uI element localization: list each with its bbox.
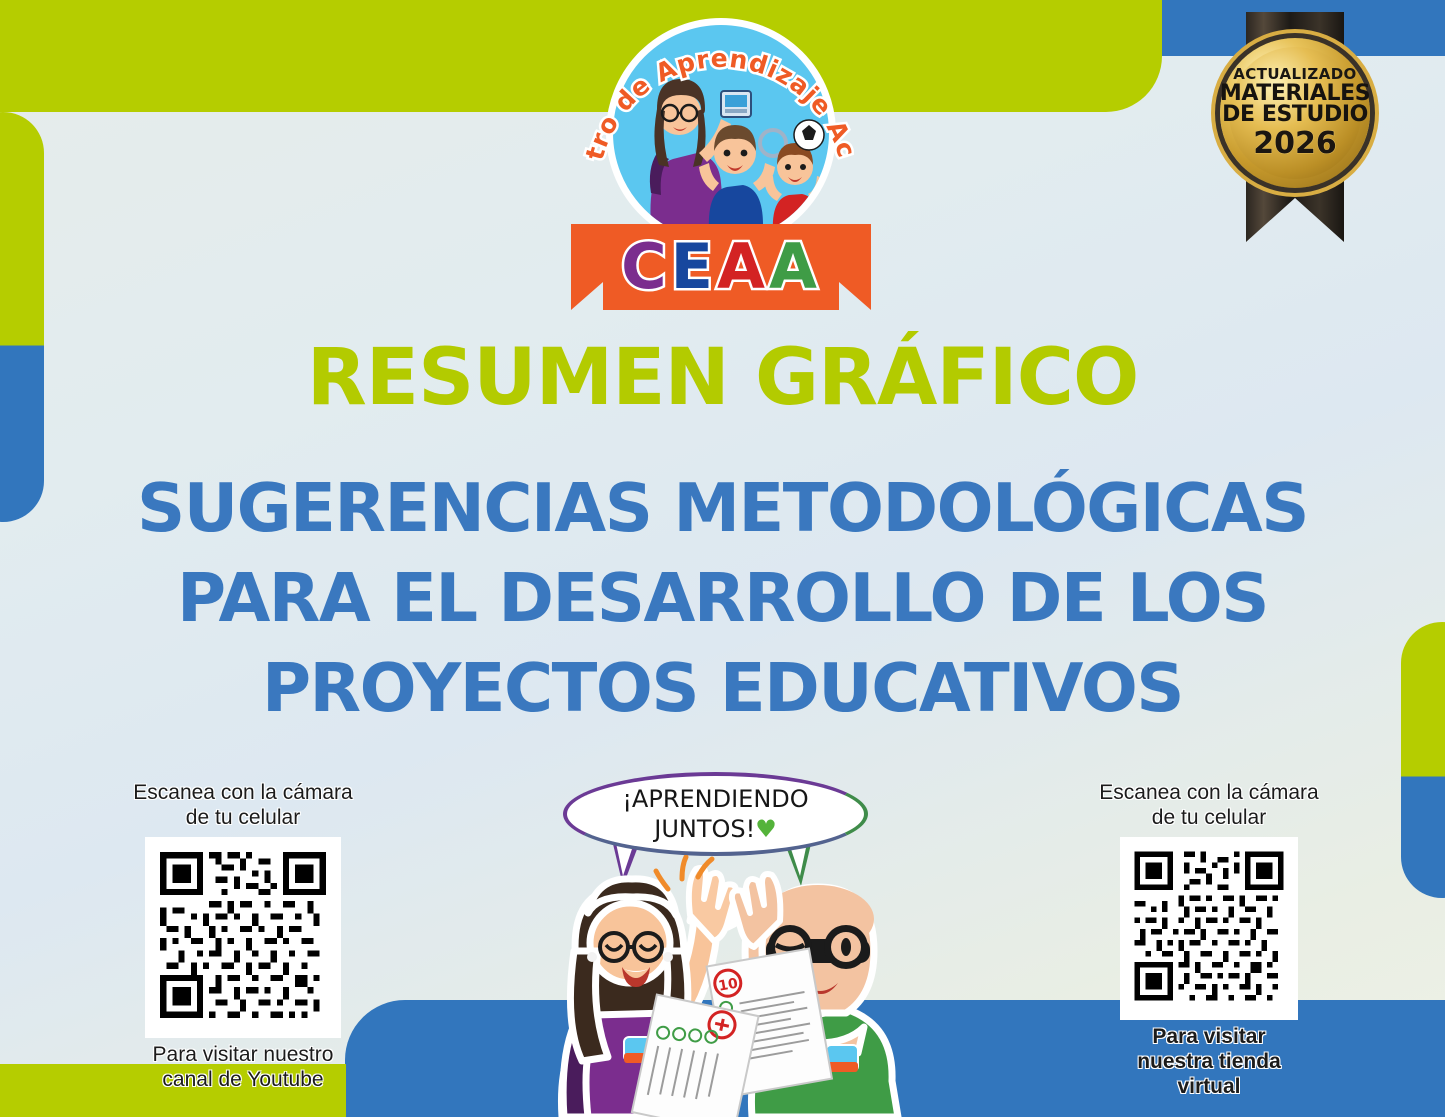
badge-medal-face: ACTUALIZADO MATERIALES DE ESTUDIO 2026: [1229, 47, 1361, 179]
qr-right-caption-bottom-3: virtual: [1065, 1074, 1353, 1099]
badge-de-estudio: DE ESTUDIO: [1220, 104, 1370, 125]
qr-code-icon[interactable]: [1129, 846, 1289, 1006]
badge-materiales: MATERIALES: [1220, 83, 1370, 104]
paper-score-right: 10: [717, 976, 739, 995]
qr-code-icon[interactable]: [154, 846, 332, 1024]
speech-line-2: JUNTOS!♥: [563, 814, 868, 844]
logo-banner: CEAA: [571, 224, 871, 310]
poster-canvas: Centro de Aprendizaje Activo CEAA ACTUAL…: [0, 0, 1445, 1117]
page-subtitle-blue: SUGERENCIAS METODOLÓGICAS PARA EL DESARR…: [0, 463, 1445, 733]
qr-left-caption-top-1: Escanea con la cámara: [112, 780, 374, 805]
logo-letter-a2: A: [769, 230, 821, 303]
qr-left-caption-bottom: Para visitar nuestro canal de Youtube: [112, 1042, 374, 1092]
qr-right-caption-bottom-1: Para visitar: [1065, 1024, 1353, 1049]
qr-code-store[interactable]: [1120, 837, 1298, 1020]
qr-code-youtube[interactable]: [145, 837, 341, 1038]
qr-left-caption-top-2: de tu celular: [112, 805, 374, 830]
logo-arc-text: Centro de Aprendizaje Activo: [566, 14, 876, 254]
qr-right-caption-bottom: Para visitar nuestra tienda virtual: [1065, 1024, 1353, 1099]
speech-line-1: ¡APRENDIENDO: [563, 784, 868, 814]
celebrating-people-illustration: 10: [540, 855, 930, 1117]
qr-right-caption-top-1: Escanea con la cámara: [1065, 780, 1353, 805]
badge-line-materiales: MATERIALES DE ESTUDIO: [1220, 83, 1370, 125]
logo-arc-label: Centro de Aprendizaje Activo: [566, 14, 862, 163]
logo-letter-a1: A: [717, 230, 769, 303]
page-title-green: RESUMEN GRÁFICO: [0, 333, 1445, 423]
updated-materials-badge: ACTUALIZADO MATERIALES DE ESTUDIO 2026: [1210, 8, 1380, 246]
green-heart-icon: ♥: [755, 815, 777, 843]
svg-text:Centro de Aprendizaje Activo: Centro de Aprendizaje Activo: [566, 14, 862, 163]
high-five-illustration-icon: 10: [540, 855, 930, 1117]
logo-letter-c: C: [621, 230, 671, 303]
subtitle-line-3: PROYECTOS EDUCATIVOS: [0, 643, 1445, 733]
logo-acronym: CEAA: [571, 232, 871, 302]
badge-year: 2026: [1253, 126, 1337, 161]
speech-bubble-text: ¡APRENDIENDO JUNTOS!♥: [563, 784, 868, 844]
qr-left-caption-top: Escanea con la cámara de tu celular: [112, 780, 374, 830]
speech-bubble: ¡APRENDIENDO JUNTOS!♥: [563, 772, 868, 856]
subtitle-line-1: SUGERENCIAS METODOLÓGICAS: [0, 463, 1445, 553]
qr-right-caption-top: Escanea con la cámara de tu celular: [1065, 780, 1353, 830]
qr-right-caption-top-2: de tu celular: [1065, 805, 1353, 830]
qr-block-store: Escanea con la cámara de tu celular: [1065, 780, 1353, 1099]
ceaa-logo: Centro de Aprendizaje Activo CEAA: [566, 18, 876, 318]
subtitle-line-2: PARA EL DESARROLLO DE LOS: [0, 553, 1445, 643]
qr-left-caption-bottom-1: Para visitar nuestro: [112, 1042, 374, 1067]
logo-letter-e: E: [671, 230, 717, 303]
qr-left-caption-bottom-2: canal de Youtube: [112, 1067, 374, 1092]
badge-medal: ACTUALIZADO MATERIALES DE ESTUDIO 2026: [1220, 38, 1370, 188]
qr-block-youtube: Escanea con la cámara de tu celular: [112, 780, 374, 1092]
left-accent-bar: [0, 112, 44, 522]
speech-line-2-text: JUNTOS!: [654, 815, 755, 843]
qr-right-caption-bottom-2: nuestra tienda: [1065, 1049, 1353, 1074]
